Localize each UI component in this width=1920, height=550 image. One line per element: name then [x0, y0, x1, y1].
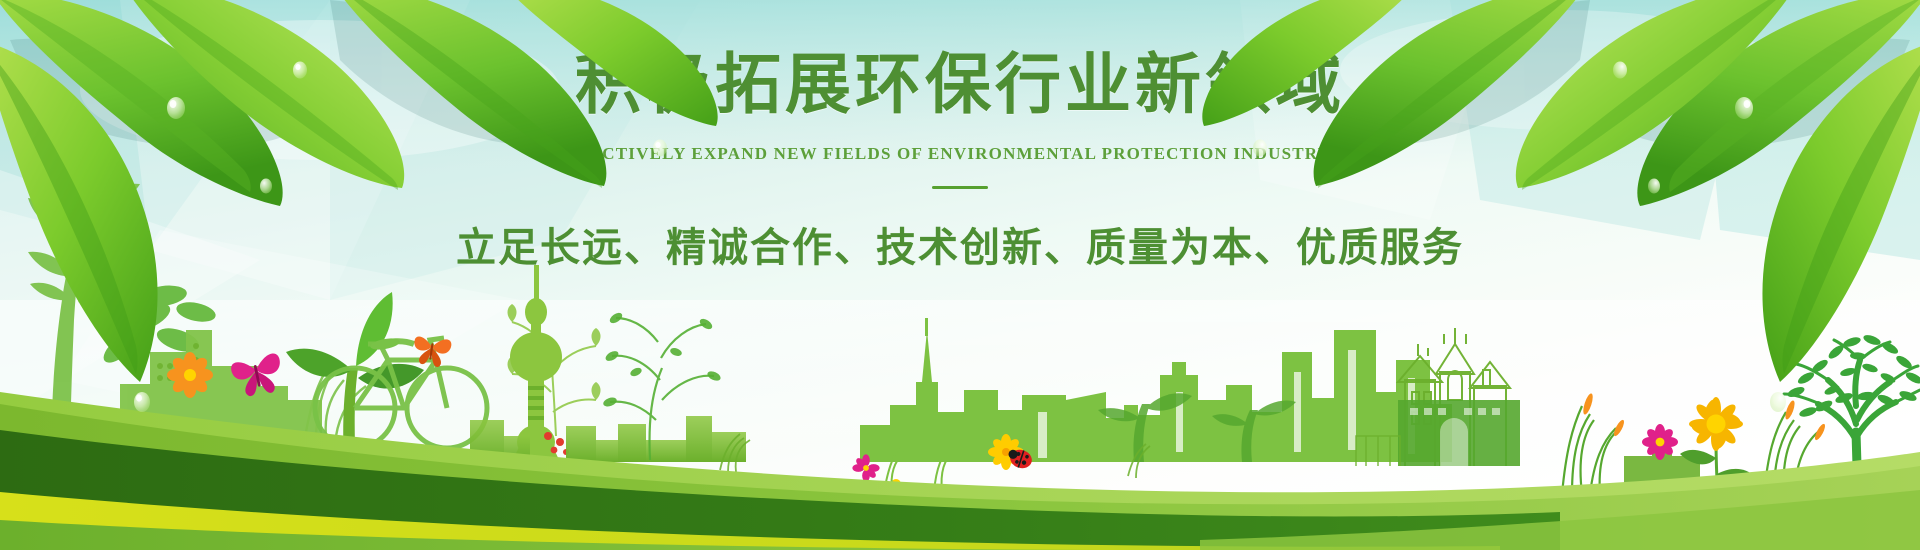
page-tagline: 立足长远、精诚合作、技术创新、质量为本、优质服务: [0, 215, 1920, 273]
divider-wrap: [0, 186, 1920, 189]
leafy-tree-right: [1784, 333, 1920, 500]
reeds-left-right: [1562, 406, 1616, 494]
title-divider: [932, 186, 988, 189]
grass-tufts-ridge: [720, 434, 1150, 478]
wave-mid: [0, 404, 1920, 550]
grass-tuft-left: [306, 364, 366, 436]
bicycle: [315, 338, 487, 448]
victorian-house: [1398, 328, 1510, 466]
branch-leaves-center: [602, 311, 722, 408]
yellow-flower-mid: [988, 434, 1024, 470]
yellow-dot-flower: [891, 479, 901, 489]
stem-plant-left: [512, 322, 596, 436]
ridge-band: [0, 392, 1920, 550]
sunflower-right: [1680, 397, 1754, 494]
city-windows-left: [157, 343, 199, 381]
wave-yellow: [0, 492, 1500, 550]
ladybug: [1005, 446, 1034, 471]
pink-flower-bicycle: [865, 487, 891, 513]
bicycle-seat: [369, 336, 400, 351]
orange-daisy: [167, 352, 213, 398]
oriental-pearl-tower: [510, 265, 562, 462]
city-skyline-left: [120, 330, 322, 462]
house-windows: [1410, 408, 1500, 415]
big-sprout: [286, 292, 424, 470]
wave-olive: [0, 520, 1100, 550]
sprout-leaves-left: [99, 283, 218, 368]
wave-sliver-right: [1200, 490, 1920, 550]
low-hedge-right: [1624, 448, 1700, 494]
reeds-far-right: [1764, 412, 1818, 494]
wave-dark: [0, 430, 1560, 550]
city-skyline-right: [860, 318, 1452, 462]
sprouts-right-mid: [1098, 393, 1296, 462]
page-title: 积极拓展环保行业新领域: [0, 52, 1920, 118]
page-subtitle: ACTIVELY EXPAND NEW FIELDS OF ENVIRONMEN…: [0, 144, 1920, 164]
victorian-house-body: [1398, 400, 1520, 466]
environmental-banner: 积极拓展环保行业新领域 ACTIVELY EXPAND NEW FIELDS O…: [0, 0, 1920, 550]
banner-copy: 积极拓展环保行业新领域 ACTIVELY EXPAND NEW FIELDS O…: [0, 52, 1920, 273]
city-highlights-right: [1038, 350, 1415, 458]
butterfly-magenta: [230, 352, 286, 400]
cattail-tips-right: [1784, 400, 1827, 442]
pink-flower-left-mid: [852, 454, 879, 481]
pink-flower-right: [1642, 424, 1678, 460]
butterfly-orange: [411, 335, 452, 369]
house-fence: [1356, 436, 1400, 466]
branch-plant-center: [610, 318, 714, 460]
grass-blades-mid: [884, 444, 954, 492]
city-skyline-center: [470, 416, 746, 462]
tower-berries: [544, 432, 569, 455]
cattail-tips: [1581, 392, 1626, 437]
